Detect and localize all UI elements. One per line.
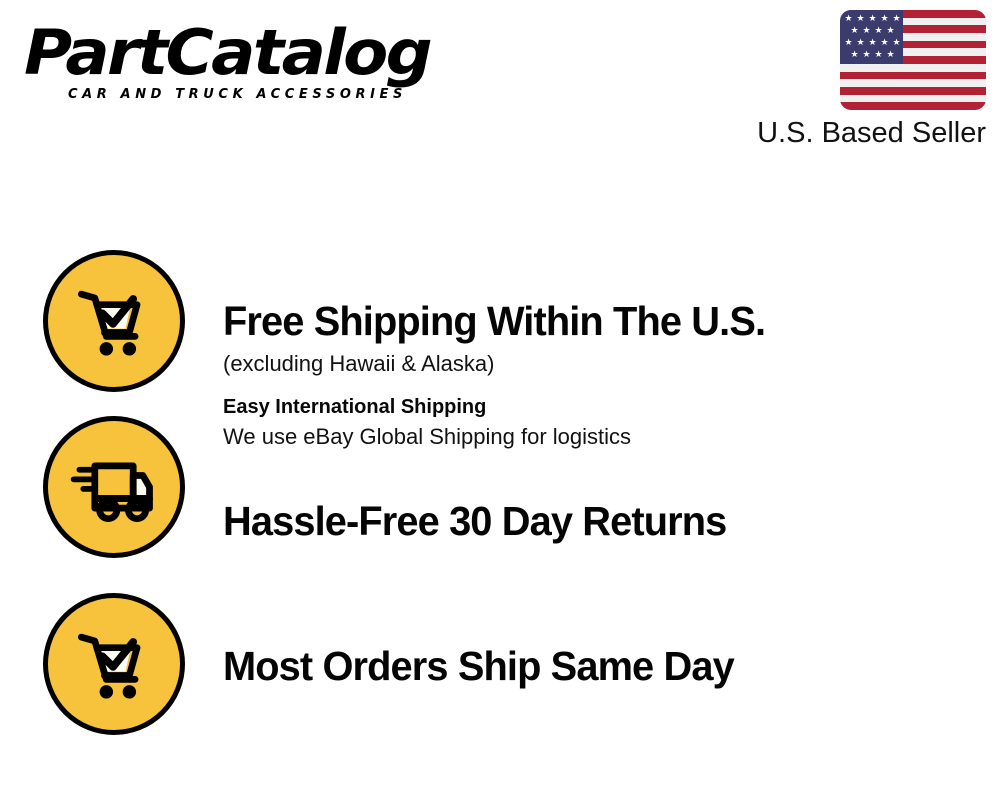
feature-row: Most Orders Ship Same Day [0, 585, 1000, 760]
feature-title: Hassle-Free 30 Day Returns [223, 498, 957, 544]
flag-stripe [840, 64, 986, 72]
flag-star-icon: ★ [850, 50, 859, 59]
flag-star-icon: ★ [892, 38, 901, 47]
delivery-truck-icon [43, 416, 185, 558]
brand-tagline: CAR AND TRUCK ACCESSORIES [68, 87, 494, 103]
feature-row: Hassle-Free 30 Day Returns [0, 410, 1000, 585]
brand-wordmark: PartCatalog [24, 22, 522, 84]
flag-star-icon: ★ [856, 38, 865, 47]
flag-stripe [840, 87, 986, 95]
feature-text-block: Most Orders Ship Same Day [223, 643, 980, 689]
feature-title: Free Shipping Within The U.S. [223, 298, 957, 344]
flag-star-icon: ★ [886, 50, 895, 59]
feature-row: Free Shipping Within The U.S. (excluding… [0, 240, 1000, 410]
flag-stripe [840, 95, 986, 103]
flag-star-icon: ★ [844, 38, 853, 47]
flag-stripe [840, 72, 986, 80]
feature-subtitle: (excluding Hawaii & Alaska) [223, 349, 980, 379]
flag-star-icon: ★ [862, 50, 871, 59]
flag-star-icon: ★ [880, 38, 889, 47]
flag-star-icon: ★ [844, 14, 853, 23]
flag-canton: ★ ★ ★ ★ ★ ★ ★ ★ ★ ★ ★ ★ ★ ★ ★ ★ ★ ★ [840, 10, 903, 64]
flag-star-icon: ★ [850, 26, 859, 35]
us-flag-icon: ★ ★ ★ ★ ★ ★ ★ ★ ★ ★ ★ ★ ★ ★ ★ ★ ★ ★ [840, 10, 986, 110]
shopping-cart-check-icon [43, 593, 185, 735]
us-based-seller-label: U.S. Based Seller [757, 116, 986, 150]
feature-text-block: Hassle-Free 30 Day Returns [223, 498, 980, 544]
feature-title: Most Orders Ship Same Day [223, 643, 957, 689]
flag-stripe [840, 102, 986, 110]
page-header: PartCatalog CAR AND TRUCK ACCESSORIES ★ … [0, 0, 1000, 170]
flag-star-icon: ★ [868, 14, 877, 23]
shopping-cart-check-icon [43, 250, 185, 392]
flag-star-icon: ★ [892, 14, 901, 23]
flag-star-icon: ★ [862, 26, 871, 35]
us-flag-badge: ★ ★ ★ ★ ★ ★ ★ ★ ★ ★ ★ ★ ★ ★ ★ ★ ★ ★ [840, 10, 986, 110]
flag-star-icon: ★ [880, 14, 889, 23]
flag-star-icon: ★ [886, 26, 895, 35]
flag-star-icon: ★ [874, 50, 883, 59]
flag-star-icon: ★ [874, 26, 883, 35]
flag-star-icon: ★ [868, 38, 877, 47]
flag-star-icon: ★ [856, 14, 865, 23]
flag-stripe [840, 79, 986, 87]
partcatalog-logo[interactable]: PartCatalog CAR AND TRUCK ACCESSORIES [24, 22, 494, 103]
